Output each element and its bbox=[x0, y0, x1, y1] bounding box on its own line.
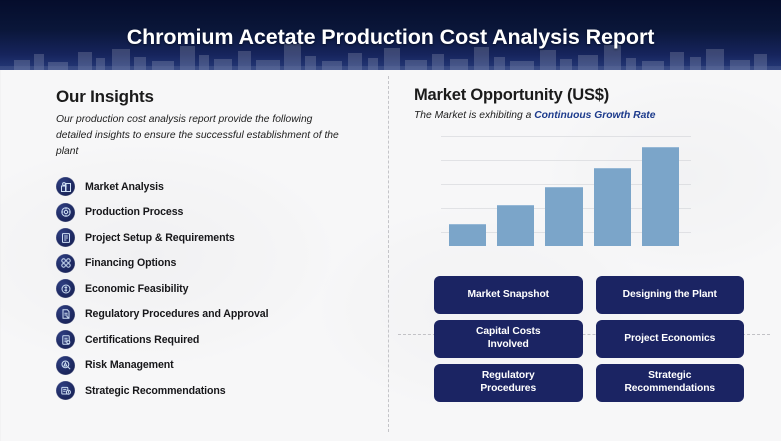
list-item-label: Financing Options bbox=[85, 257, 176, 269]
risk-management-icon bbox=[56, 356, 75, 375]
list-item-label: Production Process bbox=[85, 206, 183, 218]
insights-heading: Our Insights bbox=[56, 87, 154, 107]
chart-bar bbox=[642, 147, 679, 246]
strategic-recommendations-icon bbox=[56, 381, 75, 400]
list-item[interactable]: Economic Feasibility bbox=[56, 276, 376, 302]
list-item-label: Certifications Required bbox=[85, 334, 199, 346]
market-opportunity-panel: Market Opportunity (US$) The Market is e… bbox=[389, 70, 781, 441]
list-item[interactable]: Production Process bbox=[56, 200, 376, 226]
list-item-label: Risk Management bbox=[85, 359, 174, 371]
production-process-icon bbox=[56, 203, 75, 222]
regulatory-procedures-icon bbox=[56, 305, 75, 324]
section-button-grid: Market Snapshot Designing the Plant Capi… bbox=[434, 276, 744, 402]
button-regulatory-procedures[interactable]: Regulatory Procedures bbox=[434, 364, 583, 402]
chart-bar bbox=[449, 224, 486, 246]
market-analysis-icon bbox=[56, 177, 75, 196]
market-growth-bar-chart bbox=[449, 130, 679, 246]
list-item[interactable]: Strategic Recommendations bbox=[56, 378, 376, 404]
market-subheading-accent: Continuous Growth Rate bbox=[534, 110, 655, 121]
list-item[interactable]: Certifications Required bbox=[56, 327, 376, 353]
insights-description: Our production cost analysis report prov… bbox=[56, 112, 341, 160]
financing-options-icon bbox=[56, 254, 75, 273]
button-capital-costs-involved[interactable]: Capital Costs Involved bbox=[434, 320, 583, 358]
button-project-economics[interactable]: Project Economics bbox=[596, 320, 745, 358]
list-item-label: Strategic Recommendations bbox=[85, 385, 226, 397]
chart-bars bbox=[449, 130, 679, 246]
chart-bar bbox=[497, 205, 534, 246]
list-item[interactable]: Market Analysis bbox=[56, 174, 376, 200]
chart-bar bbox=[594, 168, 631, 246]
market-subheading: The Market is exhibiting a Continuous Gr… bbox=[414, 110, 655, 121]
report-infographic-page: Chromium Acetate Production Cost Analysi… bbox=[0, 0, 781, 441]
economic-feasibility-icon bbox=[56, 279, 75, 298]
list-item-label: Market Analysis bbox=[85, 181, 164, 193]
insights-panel: Our Insights Our production cost analysi… bbox=[0, 70, 388, 441]
page-title: Chromium Acetate Production Cost Analysi… bbox=[0, 0, 781, 70]
button-strategic-recommendations[interactable]: Strategic Recommendations bbox=[596, 364, 745, 402]
list-item-label: Economic Feasibility bbox=[85, 283, 188, 295]
button-market-snapshot[interactable]: Market Snapshot bbox=[434, 276, 583, 314]
page-header: Chromium Acetate Production Cost Analysi… bbox=[0, 0, 781, 70]
insights-list: Market Analysis Production Process bbox=[56, 174, 376, 404]
chart-bar bbox=[545, 187, 582, 246]
list-item-label: Regulatory Procedures and Approval bbox=[85, 308, 268, 320]
list-item[interactable]: Risk Management bbox=[56, 353, 376, 379]
certifications-icon bbox=[56, 330, 75, 349]
market-subheading-plain: The Market is exhibiting a bbox=[414, 110, 534, 121]
market-heading: Market Opportunity (US$) bbox=[414, 86, 609, 105]
list-item-label: Project Setup & Requirements bbox=[85, 232, 235, 244]
list-item[interactable]: Financing Options bbox=[56, 251, 376, 277]
list-item[interactable]: Project Setup & Requirements bbox=[56, 225, 376, 251]
list-item[interactable]: Regulatory Procedures and Approval bbox=[56, 302, 376, 328]
project-setup-icon bbox=[56, 228, 75, 247]
button-designing-the-plant[interactable]: Designing the Plant bbox=[596, 276, 745, 314]
